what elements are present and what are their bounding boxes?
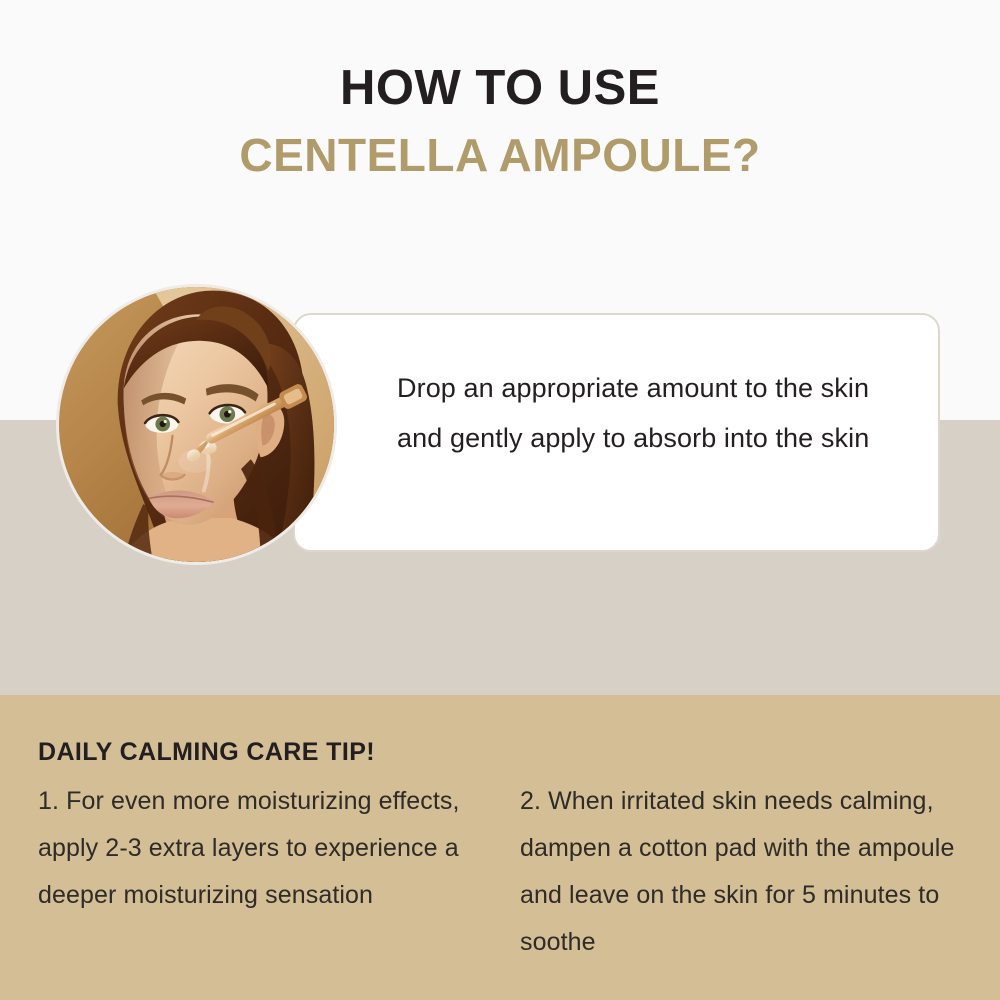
instruction-card-text: Drop an appropriate amount to the skin a… [397,363,897,463]
tip-section-heading: DAILY CALMING CARE TIP! [38,738,375,767]
tip-columns: 1. For even more moisturizing effects, a… [0,778,1000,1000]
promo-page: HOW TO USE CENTELLA AMPOULE? Drop an app… [0,0,1000,1000]
model-photo-illustration [59,287,334,562]
tip-item-2: 2. When irritated skin needs calming, da… [520,778,972,966]
photo-frame [59,287,334,562]
title-line-primary: HOW TO USE [0,58,1000,118]
avatar [56,284,337,565]
daily-tip-section: DAILY CALMING CARE TIP! 1. For even more… [0,695,1000,1000]
title-line-accent: CENTELLA AMPOULE? [0,124,1000,186]
instruction-card: Drop an appropriate amount to the skin a… [293,313,940,552]
page-title: HOW TO USE CENTELLA AMPOULE? [0,58,1000,186]
tip-item-1: 1. For even more moisturizing effects, a… [38,778,498,919]
